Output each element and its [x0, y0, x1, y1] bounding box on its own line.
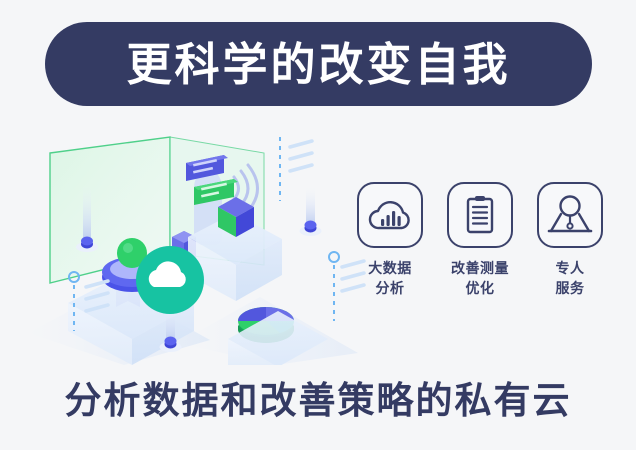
service-person-icon [537, 182, 603, 248]
feature-label-line1: 改善测量 [451, 259, 509, 279]
illustration [28, 125, 368, 365]
tagline: 分析数据和改善策略的私有云 [0, 382, 636, 419]
feature-list: 大数据 分析 改善测量 优化 [352, 182, 608, 322]
feature-dedicated-service[interactable]: 专人 服务 [532, 182, 608, 299]
feature-label: 大数据 分析 [368, 259, 412, 299]
pin-marker-right [300, 187, 322, 236]
feature-big-data-analysis[interactable]: 大数据 分析 [352, 182, 428, 299]
feature-label-line2: 优化 [451, 279, 509, 299]
feature-label: 改善测量 优化 [451, 259, 509, 299]
poster-canvas: 更科学的改变自我 [0, 0, 636, 450]
header-banner: 更科学的改变自我 [45, 22, 592, 106]
feature-label: 专人 服务 [556, 259, 585, 299]
feature-label-line1: 大数据 [368, 259, 412, 279]
banner-title: 更科学的改变自我 [126, 42, 510, 87]
cloud-bar-chart-icon [357, 182, 423, 248]
feature-label-line1: 专人 [556, 259, 585, 279]
feature-label-line2: 分析 [368, 279, 412, 299]
feature-label-line2: 服务 [556, 279, 585, 299]
clipboard-icon [447, 182, 513, 248]
feature-measurement-optimization[interactable]: 改善测量 优化 [442, 182, 518, 299]
